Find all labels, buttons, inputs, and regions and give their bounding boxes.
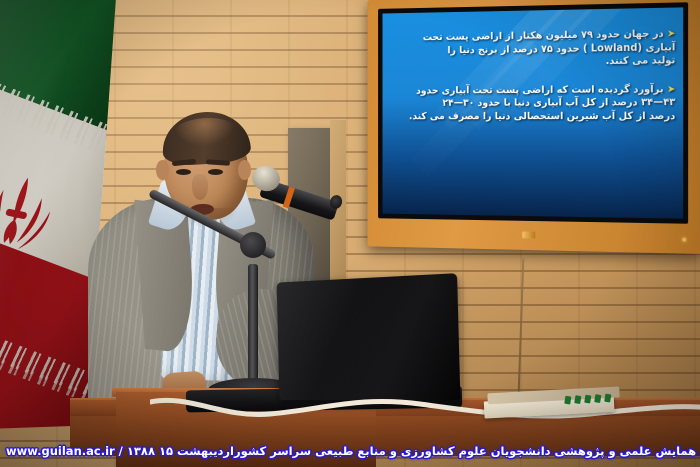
slide-body-text: ➤ در جهان حدود ۷۹ میلیون هکتار از اراضی …	[388, 27, 676, 137]
ear-right	[238, 160, 251, 180]
presentation-screen: ➤ در جهان حدود ۷۹ میلیون هکتار از اراضی …	[368, 0, 700, 254]
tv-power-led-icon	[682, 238, 686, 242]
slide-bullet-2: ➤ برآورد گردیده است که اراضی پست تحت آبی…	[388, 83, 676, 123]
book-cover-decoration-icon	[561, 391, 614, 408]
conference-photo: ➤ در جهان حدود ۷۹ میلیون هکتار از اراضی …	[0, 0, 700, 467]
ear-left	[156, 160, 169, 180]
slide-bullet-2-line-3: درصد از کل آب شیرین استحصالی دنیا را مصر…	[388, 110, 676, 123]
slide-bullet-1-line-3: تولید می کنند.	[388, 54, 676, 70]
eye-right	[208, 169, 223, 175]
eye-left	[176, 169, 191, 175]
bullet-arrow-icon-2: ➤	[667, 84, 675, 95]
nose	[192, 174, 208, 200]
bullet-arrow-icon: ➤	[667, 28, 675, 39]
slide-bullet-1-text-1: در جهان حدود ۷۹ میلیون هکتار از اراضی پس…	[423, 29, 664, 43]
tv-inner-frame: ➤ در جهان حدود ۷۹ میلیون هکتار از اراضی …	[378, 2, 688, 223]
slide-bullet-1: ➤ در جهان حدود ۷۹ میلیون هکتار از اراضی …	[388, 27, 676, 70]
laptop-screen-lid	[277, 273, 461, 400]
slide-bullet-2-line-2: ۴۳—۳۴ درصد از کل آب آبیاری دنیا با حدود …	[388, 96, 676, 110]
microphone-stand	[248, 264, 258, 382]
slide-bullet-2-line-1: ➤ برآورد گردیده است که اراضی پست تحت آبی…	[388, 83, 676, 98]
slide-bullet-2-text-1: برآورد گردیده است که اراضی پست تحت آبیار…	[416, 84, 663, 96]
microphone-clamp	[240, 232, 266, 258]
tv-brand-logo-icon	[522, 231, 535, 238]
slide-display: ➤ در جهان حدود ۷۹ میلیون هکتار از اراضی …	[383, 7, 684, 218]
